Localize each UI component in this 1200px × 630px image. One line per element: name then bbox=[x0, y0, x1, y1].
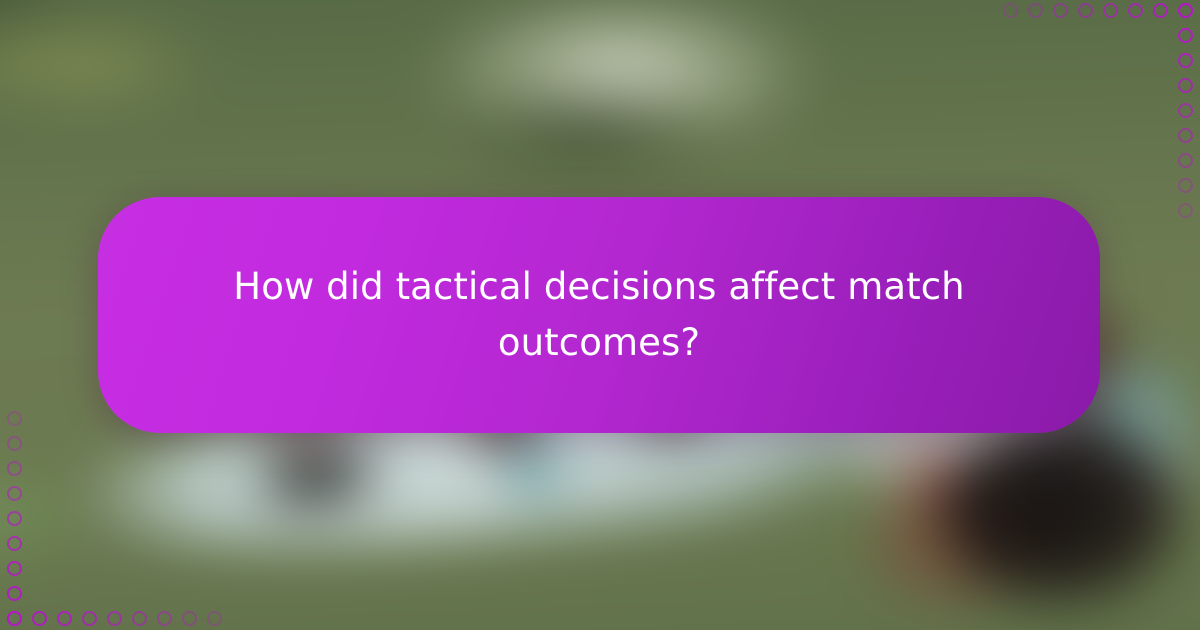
right-edge-dot-column-dot bbox=[1178, 53, 1193, 68]
top-right-dot-row-dot bbox=[1078, 3, 1093, 18]
question-card-canvas: How did tactical decisions affect match … bbox=[0, 0, 1200, 630]
top-right-dot-row-dot bbox=[1003, 3, 1018, 18]
right-edge-dot-column-dot bbox=[1178, 103, 1193, 118]
question-text: How did tactical decisions affect match … bbox=[219, 259, 979, 371]
right-edge-dot-column-dot bbox=[1178, 178, 1193, 193]
top-right-dot-row-dot bbox=[1028, 3, 1043, 18]
right-edge-dot-column-dot bbox=[1178, 28, 1193, 43]
question-card: How did tactical decisions affect match … bbox=[98, 197, 1100, 433]
right-edge-dot-column-dot bbox=[1178, 78, 1193, 93]
left-edge-dot-column-dot bbox=[7, 436, 22, 451]
right-edge-dot-column-dot bbox=[1178, 153, 1193, 168]
left-edge-dot-column-dot bbox=[7, 586, 22, 601]
left-edge-dot-column-dot bbox=[7, 536, 22, 551]
bottom-left-dot-row-dot bbox=[7, 611, 22, 626]
top-right-dot-row-dot bbox=[1053, 3, 1068, 18]
left-edge-dot-column-dot bbox=[7, 411, 22, 426]
dark-blob-upper bbox=[452, 82, 728, 177]
top-right-dot-row-dot bbox=[1128, 3, 1143, 18]
left-edge-dot-column-dot bbox=[7, 561, 22, 576]
right-edge-dot-column-dot bbox=[1178, 128, 1193, 143]
bottom-left-dot-row-dot bbox=[157, 611, 172, 626]
bottom-left-dot-row-dot bbox=[132, 611, 147, 626]
bottom-left-dot-row-dot bbox=[182, 611, 197, 626]
bottom-left-dot-row-dot bbox=[32, 611, 47, 626]
bottom-left-dot-row-dot bbox=[107, 611, 122, 626]
teal-object bbox=[513, 447, 558, 492]
foreground-person-hair bbox=[939, 418, 1183, 603]
left-edge-dot-column-dot bbox=[7, 461, 22, 476]
right-edge-dot-column-dot bbox=[1178, 203, 1193, 218]
top-right-dot-row-dot bbox=[1153, 3, 1168, 18]
bottom-left-dot-row-dot bbox=[57, 611, 72, 626]
top-right-dot-row-dot bbox=[1103, 3, 1118, 18]
left-edge-dot-column-dot bbox=[7, 511, 22, 526]
bottom-left-dot-row-dot bbox=[207, 611, 222, 626]
right-edge-dot-column-dot bbox=[1178, 3, 1193, 18]
bottom-left-dot-row-dot bbox=[82, 611, 97, 626]
left-edge-dot-column-dot bbox=[7, 486, 22, 501]
